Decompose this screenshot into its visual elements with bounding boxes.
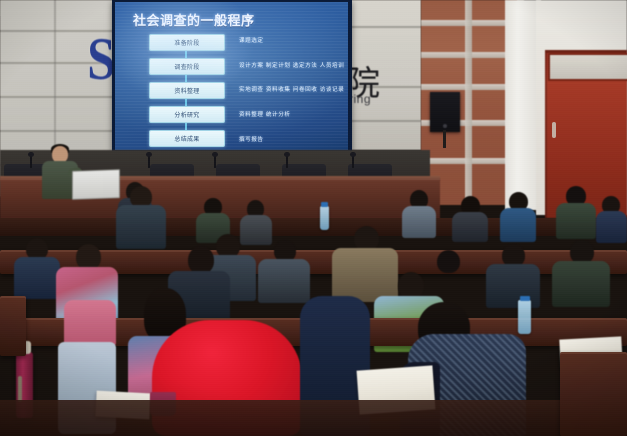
microphone-4-icon: [286, 155, 288, 168]
microphone-1-icon: [30, 155, 32, 168]
flow-step-2-label: 调查阶段: [174, 62, 199, 71]
bench-left-edge: [0, 296, 26, 356]
audience-person-b: [196, 198, 230, 238]
projection-screen: 社会调查的一般程序 准备阶段 调查阶段 资料整理 分析研究 总结成果 课题选定 …: [115, 2, 348, 150]
flow-step-1-label: 准备阶段: [174, 38, 199, 47]
water-bottle-front: [320, 206, 329, 230]
bench-right-edge: [560, 352, 627, 436]
microphone-5-icon: [352, 155, 354, 168]
audience-person-m: [486, 244, 540, 302]
audience-person-d: [402, 190, 436, 234]
lecture-hall-photo: S 院 ring 社会调查的一般程序 准备阶段 调查阶段 资料整理 分析研究 总…: [0, 0, 627, 436]
audience-person-e: [452, 196, 488, 238]
presenter-laptop: [72, 169, 120, 200]
audience-person-h: [596, 196, 627, 240]
microphone-3-icon: [214, 155, 216, 168]
flow-step-3: 资料整理: [149, 82, 225, 99]
wall-speaker-icon: [430, 92, 460, 132]
sign-english-text: ring: [349, 92, 371, 106]
person-body: [552, 261, 610, 307]
audience-person-n: [552, 240, 610, 300]
person-body: [14, 257, 60, 299]
person-head: [398, 272, 424, 299]
door-handle-icon: [552, 122, 556, 138]
flow-step-5-label: 总结成果: [174, 134, 199, 143]
flow-step-3-label: 资料整理: [174, 86, 199, 95]
flow-step-2: 调查阶段: [149, 58, 225, 75]
audience-person-f: [500, 192, 536, 238]
slide-note-4: 资料整理 统计分析: [239, 110, 343, 118]
slide-note-2: 设计方案 制定计划 选定方法 人员培训: [239, 61, 343, 69]
person-torso: [64, 300, 116, 346]
slide-flowchart: 准备阶段 调查阶段 资料整理 分析研究 总结成果: [149, 32, 223, 144]
slide-title: 社会调查的一般程序: [133, 10, 255, 29]
thermos-strap: [18, 376, 22, 402]
person-head: [188, 246, 214, 274]
person-body: [556, 203, 596, 239]
water-bottle-desk: [518, 300, 531, 334]
bench-rail-front: [0, 400, 627, 436]
door-transom-window: [548, 53, 627, 81]
slide-note-3: 实地调查 资料收集 问卷回收 访谈记录: [239, 85, 343, 93]
person-body: [402, 206, 436, 238]
person-body: [116, 205, 166, 249]
flow-step-4: 分析研究: [149, 106, 225, 123]
audience-person-k: [258, 240, 310, 298]
flow-step-4-label: 分析研究: [174, 110, 199, 119]
slide-note-1: 课题选定: [239, 36, 343, 44]
audience-person-i: [14, 238, 60, 294]
flow-step-5: 总结成果: [149, 130, 225, 147]
audience-person-blue-center: [116, 186, 166, 244]
audience-person-g: [556, 186, 596, 236]
person-body: [596, 211, 627, 243]
speaker-mount: [443, 130, 446, 148]
microphone-2-icon: [148, 155, 150, 168]
person-body: [452, 212, 488, 242]
slide-note-5: 撰写报告: [239, 135, 343, 143]
person-body: [500, 208, 536, 242]
flow-step-1: 准备阶段: [149, 34, 225, 51]
